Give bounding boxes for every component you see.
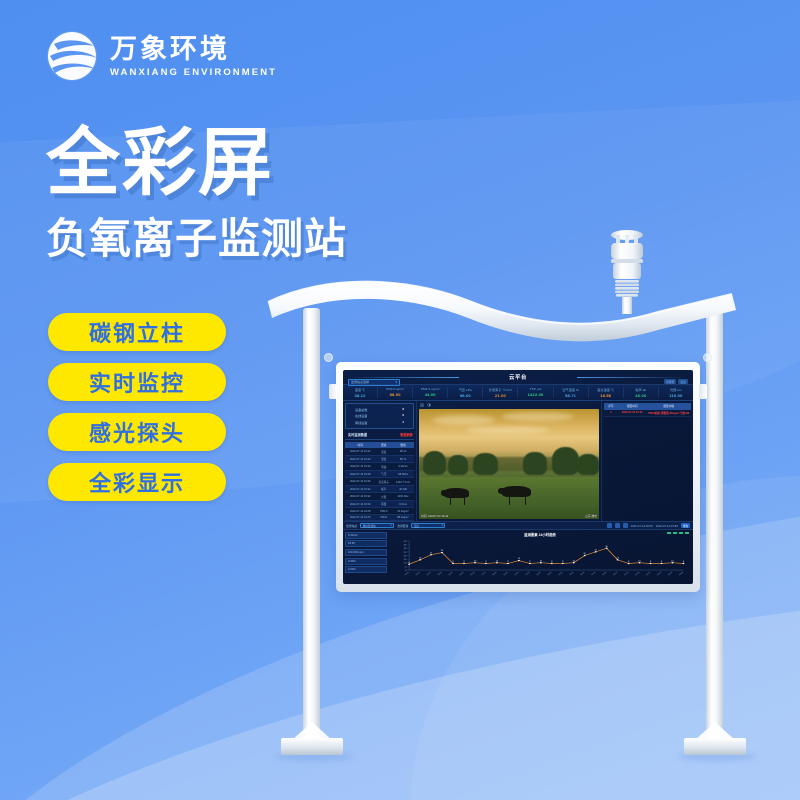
svg-text:14:00: 14:00 (558, 572, 563, 576)
cell-time: 2022-07-13 16:42 (345, 455, 375, 463)
svg-text:10: 10 (638, 560, 641, 562)
table-row[interactable]: 2022-07-13 16:38气压98.0kPa (345, 470, 414, 478)
svg-text:02:00: 02:00 (427, 572, 432, 576)
status-row: 离线设备1 (349, 420, 410, 425)
cell-time: 2022-07-13 16:26 (345, 514, 375, 521)
query-button[interactable]: 查询 (681, 523, 690, 529)
snapshot-icon[interactable] (427, 403, 431, 407)
table-row[interactable]: 2022-07-13 16:34噪声46.0db (345, 485, 414, 493)
user-chip: 管理员 (664, 379, 676, 384)
metric-item: TSP μm1422.00 (518, 387, 553, 399)
chevron-down-icon: ▾ (390, 524, 391, 527)
status-label: 在线设备 (355, 413, 367, 418)
metric-value: 88.00 (378, 392, 412, 397)
svg-text:9: 9 (650, 561, 652, 563)
svg-text:15: 15 (404, 559, 408, 561)
cow-leg (525, 496, 526, 505)
chart-legend (667, 532, 689, 535)
svg-text:9: 9 (562, 561, 564, 563)
video-panel: 时间: 2022/7/13 16:42 山东 潍坊 (417, 401, 601, 521)
cell-value: 58.71 (392, 455, 414, 463)
svg-text:18:00: 18:00 (602, 572, 607, 576)
svg-text:21: 21 (430, 552, 433, 554)
metric-item: 温度 ℃38.12 (343, 387, 378, 399)
metric-value: 18.56 (589, 393, 623, 398)
cell-time: 2022-07-13 16:36 (345, 478, 375, 486)
side-stat: 0.00% (345, 558, 387, 565)
svg-text:11:00: 11:00 (525, 572, 530, 576)
toolbar-station-value: 潍坊监测站 (363, 524, 376, 528)
header-deco-right (577, 377, 687, 378)
svg-text:23:59: 23:59 (679, 572, 684, 576)
dashboard-title: 云平台 (509, 373, 527, 381)
cell-value: 0.0mm (392, 500, 414, 508)
dashboard-screen: 云平台 监测站点选择 ▾ 管理员 退出 温度 ℃38.12 PM10 ug/m³… (343, 370, 693, 584)
svg-text:30: 30 (605, 546, 608, 548)
svg-text:10: 10 (474, 560, 477, 562)
svg-text:03:00: 03:00 (438, 572, 443, 576)
cow-head (441, 490, 448, 496)
svg-text:05:00: 05:00 (459, 572, 464, 576)
svg-text:20:00: 20:00 (624, 572, 629, 576)
cow-leg (509, 496, 510, 505)
svg-text:9: 9 (463, 561, 465, 563)
metric-label: 光照 lux (659, 387, 693, 392)
svg-text:9: 9 (628, 561, 630, 563)
mount-screw-top-right (703, 353, 712, 362)
cell-time: 2022-07-13 16:34 (345, 485, 375, 493)
status-row: 设备总数3 (349, 407, 410, 412)
alarm-header-row: 序号 报警时间 报警内容 (604, 403, 691, 410)
svg-text:23:00: 23:00 (657, 572, 662, 576)
table-row[interactable]: 2022-07-13 16:42湿度58.71 (345, 455, 414, 463)
column-header: 数值 (392, 442, 414, 449)
svg-text:23:30: 23:30 (668, 572, 673, 576)
metric-label: 空气湿度 % (554, 387, 588, 392)
cell-element: 温度 (375, 448, 392, 455)
cell-time: 2022-07-13 16:30 (345, 500, 375, 508)
metric-value: 98.00 (448, 393, 482, 398)
alarm-message: PM10超标 预警值 80ug/m³ 当前 88 (647, 411, 690, 415)
metric-label: 气压 kPa (448, 387, 482, 392)
side-stat: 0.30m/s (345, 532, 387, 539)
status-badge: 数据刷新 (400, 432, 413, 437)
side-stat: 18.56 (345, 540, 387, 547)
cell-time: 2022-07-13 16:40 (345, 463, 375, 471)
cell-element: 雨量 (375, 500, 392, 508)
side-stat: 100.000 ppm (345, 549, 387, 556)
cell-element: 负氧离子 (375, 478, 392, 486)
svg-text:10:00: 10:00 (514, 572, 519, 576)
base-plate-left (281, 738, 343, 755)
status-label: 设备总数 (355, 407, 367, 412)
svg-text:5: 5 (405, 566, 407, 568)
side-stat-list: 0.30m/s 18.56 100.000 ppm 0.00% 0.00% (345, 532, 387, 583)
station-select[interactable]: 监测站点选择 ▾ (348, 379, 400, 386)
video-toolbar (419, 403, 599, 409)
metric-label: TSP μm (518, 387, 552, 391)
table-row[interactable]: 2022-07-13 16:40风速0.30m/s (345, 463, 414, 471)
trend-chart: 监测要素 24小时趋势 0510152025303540800:001401:0… (387, 532, 691, 583)
metric-label: 露点温度 ℃ (589, 387, 623, 392)
svg-text:21:00: 21:00 (635, 572, 640, 576)
header-user-area: 管理员 退出 (664, 379, 688, 384)
metric-item: 光照 lux110.00 (659, 387, 693, 399)
svg-text:10: 10 (540, 560, 543, 562)
cell-element: 湿度 (375, 455, 392, 463)
column-header: 报警时间 (617, 404, 648, 408)
svg-text:15:00: 15:00 (569, 572, 574, 576)
tree-shape (473, 453, 498, 475)
svg-text:30: 30 (404, 548, 408, 550)
svg-text:10: 10 (404, 563, 408, 565)
svg-text:0: 0 (405, 570, 407, 572)
header-deco-left (349, 377, 459, 378)
tree-shape (523, 452, 546, 475)
monitoring-station-product: 云平台 监测站点选择 ▾ 管理员 退出 温度 ℃38.12 PM10 ug/m³… (0, 0, 800, 800)
toolbar-element-value: 温度 (414, 524, 419, 528)
status-row: 在线设备2 (349, 413, 410, 418)
status-value: 1 (402, 420, 404, 425)
alarm-panel: 序号 报警时间 报警内容 1 2022-07-13 15:12 PM10超标 预… (601, 401, 693, 521)
svg-text:13:00: 13:00 (547, 572, 552, 576)
cell-value: 1240 个/cm³ (392, 478, 414, 486)
metric-value: 1422.00 (518, 392, 552, 397)
chart-title: 监测要素 24小时趋势 (389, 532, 691, 537)
data-panel-title: 实时监测数据 数据刷新 (345, 431, 414, 440)
date-to-field[interactable]: 2022-07-13 23:59 (656, 524, 678, 528)
svg-text:35: 35 (404, 545, 408, 547)
panel-title-text: 实时监测数据 (348, 432, 367, 437)
alarm-empty-area (604, 417, 691, 519)
svg-text:17:00: 17:00 (591, 572, 596, 576)
table-row[interactable]: 2022-07-13 16:36负氧离子1240 个/cm³ (345, 478, 414, 486)
svg-text:20: 20 (404, 556, 408, 558)
cell-element: 光照 (375, 493, 392, 501)
export-icon[interactable] (623, 523, 628, 528)
table-row[interactable]: 2022-07-13 16:42温度38.12 (345, 448, 414, 455)
status-value: 2 (402, 413, 404, 418)
metric-value: 58.71 (554, 393, 588, 398)
status-value: 3 (402, 407, 404, 412)
s-curve-canopy (262, 276, 740, 346)
metric-value: 44.00 (413, 392, 447, 397)
svg-text:19:00: 19:00 (613, 572, 618, 576)
alarm-time: 2022-07-13 15:12 (617, 411, 648, 415)
promo-poster: 万象环境 WANXIANG ENVIRONMENT 全彩屏 负氧离子监测站 碳钢… (0, 0, 800, 800)
logout-button[interactable]: 退出 (678, 379, 688, 384)
cell-element: 气压 (375, 470, 392, 478)
svg-text:14: 14 (616, 558, 619, 560)
svg-text:12:00: 12:00 (536, 572, 541, 576)
metric-value: 46.00 (624, 393, 658, 398)
chart-view-icon[interactable] (615, 523, 620, 528)
device-status-box: 设备总数3 在线设备2 离线设备1 (345, 403, 414, 429)
metric-item: 露点温度 ℃18.56 (589, 387, 624, 399)
cell-element: 风速 (375, 463, 392, 471)
metric-item: PM2.5 ug/m³44.00 (413, 387, 448, 399)
svg-text:07:00: 07:00 (481, 572, 486, 576)
live-video-feed[interactable]: 时间: 2022/7/13 16:42 山东 潍坊 (419, 409, 599, 519)
dashboard-body: 设备总数3 在线设备2 离线设备1 实时监测数据 数据刷新 时间 (343, 401, 693, 521)
table-row[interactable]: 2022-07-13 16:26PM1088.0ug/m³ (345, 514, 414, 521)
trend-chart-section: 0.30m/s 18.56 100.000 ppm 0.00% 0.00% 监测… (343, 530, 693, 584)
video-timestamp: 时间: 2022/7/13 16:42 (421, 514, 448, 518)
support-post-left (303, 308, 320, 740)
metric-label: 噪声 db (624, 387, 658, 392)
metric-label: 负氧离子 个/cm³ (483, 387, 517, 392)
metric-item: PM10 ug/m³88.00 (378, 387, 413, 399)
cow-leg (464, 497, 465, 505)
alarm-index: 1 (605, 411, 617, 415)
support-post-right (706, 308, 723, 740)
svg-text:10: 10 (671, 560, 674, 562)
chevron-down-icon: ▾ (442, 524, 443, 527)
svg-text:22:00: 22:00 (646, 572, 651, 576)
chart-canvas: 0510152025303540800:001401:002102:002403… (389, 537, 691, 579)
svg-text:9: 9 (683, 561, 685, 563)
cell-element: 噪声 (375, 485, 392, 493)
metric-item: 负氧离子 个/cm³21.00 (483, 387, 518, 399)
mount-bracket-right (699, 384, 707, 399)
cell-value: 38.12 (392, 448, 414, 455)
mount-bracket-left (329, 384, 337, 399)
ultrasonic-weather-sensor-icon (600, 228, 654, 314)
cell-value: 1100.0lux (392, 493, 414, 501)
table-row[interactable]: 2022-07-13 16:32光照1100.0lux (345, 493, 414, 501)
dashboard-header: 云平台 监测站点选择 ▾ 管理员 退出 (343, 370, 693, 385)
toolbar-station-select[interactable]: 潍坊监测站 ▾ (360, 523, 394, 529)
cloud-shape (502, 412, 574, 421)
metric-label: 温度 ℃ (343, 387, 377, 392)
column-header: 报警内容 (647, 404, 690, 408)
svg-text:9: 9 (529, 561, 531, 563)
tree-shape (577, 454, 599, 475)
cell-time: 2022-07-13 16:38 (345, 470, 375, 478)
metrics-strip: 温度 ℃38.12 PM10 ug/m³88.00 PM2.5 ug/m³44.… (343, 385, 693, 401)
metric-value: 38.12 (343, 393, 377, 398)
svg-text:08:00: 08:00 (492, 572, 497, 576)
date-from-field[interactable]: 2022-07-13 00:00 (631, 524, 653, 528)
mount-screw-top-left (324, 353, 333, 362)
tree-shape (448, 455, 468, 475)
svg-text:9: 9 (551, 561, 553, 563)
metric-value: 21.00 (483, 393, 517, 398)
svg-text:04:00: 04:00 (448, 572, 453, 576)
cell-value: 46.0db (392, 485, 414, 493)
cloud-shape (466, 426, 549, 434)
metric-item: 噪声 db46.00 (624, 387, 659, 399)
query-toolbar: 监测站点 潍坊监测站 ▾ 监测要素 温度 ▾ 2022-07-13 00:00 (343, 521, 693, 530)
toolbar-station-label: 监测站点 (346, 524, 357, 528)
tree-shape (423, 451, 446, 475)
table-view-icon[interactable] (607, 523, 612, 528)
cow-head (498, 488, 506, 494)
svg-text:9: 9 (452, 561, 454, 563)
svg-text:9: 9 (485, 561, 487, 563)
svg-text:25: 25 (404, 552, 408, 554)
table-body: 2022-07-13 16:42温度38.12 2022-07-13 16:42… (345, 448, 414, 521)
metric-label: PM2.5 ug/m³ (413, 387, 447, 391)
metric-item: 空气湿度 %58.71 (554, 387, 589, 399)
column-header: 序号 (605, 404, 617, 408)
table-header-row: 时间 要素 数值 (345, 442, 414, 449)
tree-shape (552, 447, 579, 475)
cell-time: 2022-07-13 16:32 (345, 493, 375, 501)
chevron-down-icon: ▾ (395, 380, 397, 384)
svg-text:24: 24 (441, 550, 444, 552)
svg-text:01:00: 01:00 (416, 572, 421, 576)
svg-text:40: 40 (404, 541, 408, 543)
side-stat: 0.00% (345, 566, 387, 573)
video-location: 山东 潍坊 (585, 514, 597, 518)
camera-icon[interactable] (420, 403, 424, 407)
base-plate-right (684, 738, 746, 755)
svg-text:9: 9 (661, 561, 663, 563)
svg-text:16:00: 16:00 (580, 572, 585, 576)
cow-leg (450, 497, 451, 505)
led-display-cabinet: 云平台 监测站点选择 ▾ 管理员 退出 温度 ℃38.12 PM10 ug/m³… (336, 362, 700, 592)
realtime-data-table: 时间 要素 数值 2022-07-13 16:42温度38.12 2022-07… (345, 442, 414, 522)
cloud-shape (433, 415, 494, 425)
table-row[interactable]: 2022-07-13 16:30雨量0.0mm (345, 500, 414, 508)
svg-text:9: 9 (507, 561, 509, 563)
toolbar-element-select[interactable]: 温度 ▾ (411, 523, 445, 529)
status-label: 离线设备 (355, 420, 367, 425)
svg-text:06:00: 06:00 (470, 572, 475, 576)
station-select-value: 监测站点选择 (351, 380, 369, 384)
column-header: 要素 (375, 442, 392, 449)
metric-value: 110.00 (659, 393, 693, 398)
toolbar-element-label: 监测要素 (397, 524, 408, 528)
metric-label: PM10 ug/m³ (378, 387, 412, 391)
alarm-row[interactable]: 1 2022-07-13 15:12 PM10超标 预警值 80ug/m³ 当前… (604, 410, 691, 418)
svg-text:13: 13 (518, 558, 521, 560)
cell-element: PM10 (375, 514, 392, 521)
cell-value: 98.0kPa (392, 470, 414, 478)
svg-text:10: 10 (496, 560, 499, 562)
metric-item: 气压 kPa98.00 (448, 387, 483, 399)
column-header: 时间 (345, 442, 375, 449)
cell-value: 88.0ug/m³ (392, 514, 414, 521)
cell-value: 0.30m/s (392, 463, 414, 471)
svg-text:00:00: 00:00 (405, 572, 410, 576)
left-panel: 设备总数3 在线设备2 离线设备1 实时监测数据 数据刷新 时间 (343, 401, 417, 521)
cow-body (444, 488, 469, 498)
svg-text:09:00: 09:00 (503, 572, 508, 576)
cell-time: 2022-07-13 16:42 (345, 448, 375, 455)
